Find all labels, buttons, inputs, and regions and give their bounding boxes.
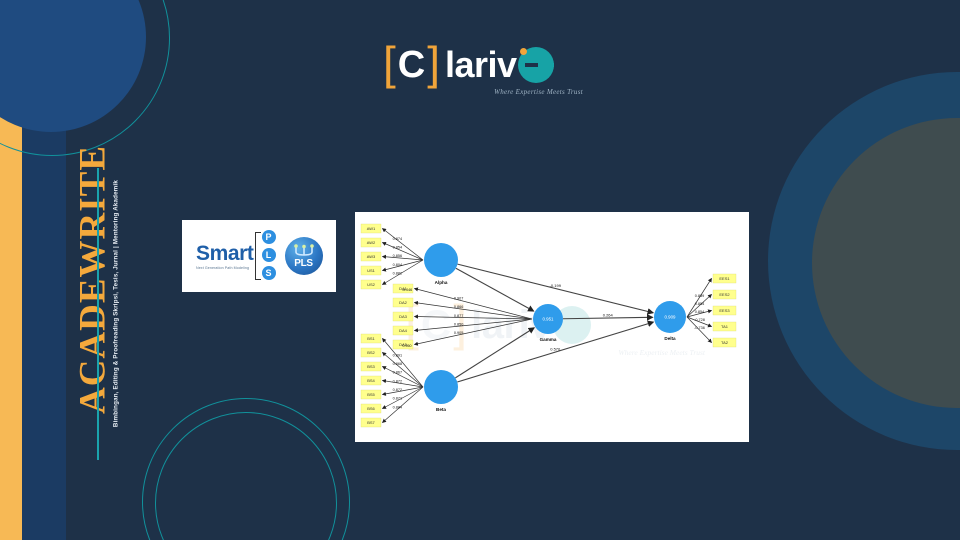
diagram-text: 0.950 — [403, 344, 412, 348]
path-arrow — [415, 319, 533, 331]
diagram-text: DA4 — [399, 328, 408, 333]
diagram-text: 0.850 — [454, 323, 464, 327]
logo-bracket-left-icon: [ — [383, 40, 396, 86]
diagram-text: 0.871 — [393, 397, 403, 401]
diagram-text: 0.905 — [454, 331, 464, 335]
smartpls-bubble-l: L — [262, 248, 276, 262]
diagram-text: US2 — [367, 282, 376, 287]
smartpls-bubble-p: P — [262, 230, 276, 244]
diagram-text: AW2 — [367, 240, 376, 245]
diagram-text: -0.199 — [550, 283, 562, 288]
decor-ring-bottom-left-inner — [155, 412, 337, 540]
svg-text:0.909: 0.909 — [665, 315, 677, 320]
diagram-text: BS5 — [367, 392, 375, 397]
smartpls-trident-icon — [293, 244, 315, 258]
diagram-text: 0.856 — [393, 254, 403, 258]
diagram-text: 0.854 — [393, 246, 403, 250]
diagram-text: 0.872 — [393, 379, 403, 383]
logo-letter-c: C — [396, 46, 427, 84]
diagram-text: 0.570 — [550, 347, 561, 352]
brand-tagline: Bimbingan, Editing & Proofreading Skrips… — [113, 170, 120, 438]
diagram-text: 0.867 — [393, 371, 403, 375]
smartpls-subtitle: Next Generation Path Modeling — [196, 266, 254, 270]
diagram-text: 0.872 — [393, 388, 403, 392]
construct-node: 0.909Delta — [654, 301, 686, 341]
diagram-text: TA1 — [721, 324, 729, 329]
diagram-text: TA2 — [721, 340, 729, 345]
clarive-logo: [ C ] lariv Where Expertise Meets Trust — [383, 42, 583, 104]
diagram-text: BS3 — [367, 364, 375, 369]
diagram-text: EES1 — [719, 276, 730, 281]
construct-node: 0.951Gamma — [533, 304, 563, 342]
diagram-text: BS2 — [367, 350, 375, 355]
diagram-text: 0.884 — [393, 405, 403, 409]
diagram-text: 0.868 — [393, 362, 403, 366]
diagram-text: -0.046 — [402, 288, 412, 292]
diagram-text: 0.866 — [454, 305, 464, 309]
svg-text:Beta: Beta — [436, 407, 446, 412]
decor-circle-right-inner — [812, 118, 960, 408]
diagram-text: 0.874 — [393, 237, 403, 241]
diagram-text: BS7 — [367, 420, 375, 425]
path-arrow — [456, 268, 534, 311]
decor-circle-right-outer — [768, 72, 960, 450]
path-arrow — [383, 229, 424, 261]
diagram-text: AW1 — [367, 226, 376, 231]
diagram-text: 0.891 — [393, 353, 403, 357]
smartpls-brace-icon — [255, 232, 261, 280]
construct-node: Alpha — [424, 243, 458, 285]
path-arrow — [383, 260, 424, 285]
path-arrow — [457, 264, 653, 313]
diagram-text: 0.907 — [454, 296, 464, 300]
brand-divider — [97, 168, 99, 460]
diagram-text: 0.854 — [695, 310, 705, 314]
diagram-text: DA2 — [399, 300, 408, 305]
smartpls-wordmark-block: Smart Next Generation Path Modeling — [196, 243, 254, 270]
path-arrow — [415, 289, 533, 320]
smartpls-logo-card: Smart Next Generation Path Modeling P L … — [181, 219, 337, 293]
smartpls-bubble-stack: P L S — [260, 229, 278, 283]
brand-title: ACADEWRITE — [72, 125, 115, 435]
smartpls-bubble-s: S — [262, 266, 276, 280]
path-arrow — [383, 387, 424, 423]
diagram-text: AW3 — [367, 254, 376, 259]
diagram-text: EES2 — [719, 292, 730, 297]
path-arrow — [383, 260, 424, 271]
smartpls-globe-icon: PLS — [285, 237, 323, 275]
logo-i-dot-icon — [520, 48, 527, 55]
diagram-text: 0.839 — [695, 294, 705, 298]
diagram-text: 0.264 — [603, 313, 614, 318]
brand-block: ACADEWRITE Bimbingan, Editing & Proofrea… — [44, 150, 124, 480]
path-arrow — [383, 387, 424, 395]
decor-circle-top-left — [0, 0, 146, 132]
diagram-text: BS1 — [367, 336, 375, 341]
decor-orange-bar — [0, 0, 22, 540]
svg-text:0.951: 0.951 — [543, 317, 555, 322]
slide-canvas: ACADEWRITE Bimbingan, Editing & Proofrea… — [0, 0, 960, 540]
path-arrow — [383, 387, 424, 409]
pls-model-card: [ C ] lariv Where Expertise Meets Trust … — [354, 211, 750, 443]
logo-bracket-right-icon: ] — [427, 40, 440, 86]
logo-wordmark: lariv — [445, 47, 517, 83]
svg-text:Alpha: Alpha — [435, 280, 448, 285]
svg-text:Gamma: Gamma — [540, 337, 557, 342]
logo-tagline: Where Expertise Meets Trust — [494, 88, 583, 96]
svg-text:Delta: Delta — [664, 336, 676, 341]
decor-ring-bottom-left-outer — [142, 398, 350, 540]
smartpls-globe-label: PLS — [285, 258, 323, 269]
smartpls-wordmark: Smart — [196, 243, 254, 264]
construct-node: Beta — [424, 370, 458, 412]
diagram-text: US1 — [367, 268, 376, 273]
diagram-text: BS6 — [367, 406, 375, 411]
diagram-text: 0.854 — [695, 302, 705, 306]
pls-path-diagram: AlphaBeta0.951Gamma0.909Delta AW10.874AW… — [355, 212, 751, 444]
diagram-text: -0.736 — [694, 326, 705, 330]
diagram-text: -0.728 — [694, 318, 705, 322]
diagram-text: EES3 — [719, 308, 730, 313]
diagram-text: 0.877 — [454, 314, 464, 318]
diagram-text: BS4 — [367, 378, 375, 383]
diagram-text: 0.882 — [393, 272, 403, 276]
diagram-text: DA3 — [399, 314, 408, 319]
diagram-text: 0.804 — [393, 263, 403, 267]
